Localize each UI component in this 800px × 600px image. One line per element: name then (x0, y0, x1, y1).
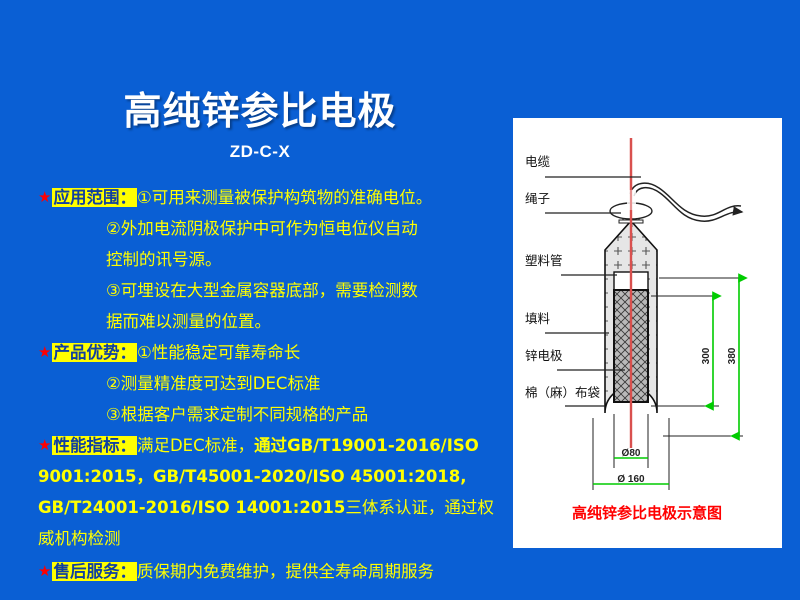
dim-value-d160: Ø 160 (617, 474, 645, 485)
bullet-star-icon: ★ (38, 562, 51, 580)
electrode-schematic: 电缆 绳子 塑料管 填料 锌电极 棉（麻）布袋 300 380 Ø8 (513, 118, 782, 548)
label-cable: 电缆 (525, 154, 551, 169)
section-application-item-1: ①可用来测量被保护构筑物的准确电位。 (137, 188, 432, 207)
section-advantages-item-3-line: ③根据客户需求定制不同规格的产品 (38, 399, 506, 430)
bullet-star-icon: ★ (38, 188, 51, 206)
section-advantages-item-2: ②测量精准度可达到DEC标准 (106, 374, 320, 393)
diagram-panel: 电缆 绳子 塑料管 填料 锌电极 棉（麻）布袋 300 380 Ø8 (513, 118, 782, 548)
section-application-item-2-line: ②外加电流阴极保护中可作为恒电位仪自动 (38, 213, 506, 244)
section-performance: ★性能指标：满足DEC标准，通过GB/T19001-2016/ISO 9001:… (38, 430, 506, 554)
dim-value-380: 380 (727, 347, 738, 364)
section-application-item-2: ②外加电流阴极保护中可作为恒电位仪自动 (106, 219, 418, 238)
bullet-star-icon: ★ (38, 436, 51, 454)
section-application-heading: ★应用范围：①可用来测量被保护构筑物的准确电位。 (38, 182, 506, 213)
section-advantages-heading: ★产品优势：①性能稳定可靠寿命长 (38, 337, 506, 368)
section-application-item-5: 据而难以测量的位置。 (106, 312, 271, 331)
bullet-star-icon: ★ (38, 343, 51, 361)
title-block: 高纯锌参比电极 ZD-C-X (0, 92, 520, 162)
section-application-item-4-line: ③可埋设在大型金属容器底部，需要检测数 (38, 275, 506, 306)
content-body: ★应用范围：①可用来测量被保护构筑物的准确电位。 ②外加电流阴极保护中可作为恒电… (38, 182, 506, 587)
section-service-label: 售后服务： (52, 562, 137, 581)
section-advantages-item-3: ③根据客户需求定制不同规格的产品 (106, 405, 368, 424)
section-application-item-3: 控制的讯号源。 (106, 250, 222, 269)
section-application-item-3-line: 控制的讯号源。 (38, 244, 506, 275)
label-cloth-bag: 棉（麻）布袋 (525, 385, 601, 400)
section-advantages-item-1: ①性能稳定可靠寿命长 (137, 343, 300, 362)
section-application-item-5-line: 据而难以测量的位置。 (38, 306, 506, 337)
section-service: ★售后服务：质保期内免费维护，提供全寿命周期服务 (38, 556, 506, 587)
section-advantages-label: 产品优势： (52, 343, 137, 362)
section-application-label: 应用范围： (52, 188, 137, 207)
section-service-text: 质保期内免费维护，提供全寿命周期服务 (137, 562, 434, 581)
page-title: 高纯锌参比电极 (0, 92, 520, 132)
model-code: ZD-C-X (0, 142, 520, 162)
label-plastic-tube: 塑料管 (525, 253, 563, 268)
slide-canvas: 高纯锌参比电极 ZD-C-X ★应用范围：①可用来测量被保护构筑物的准确电位。 … (0, 0, 800, 600)
dim-value-300: 300 (701, 347, 712, 364)
label-zinc-electrode: 锌电极 (525, 348, 563, 363)
section-application-item-4: ③可埋设在大型金属容器底部，需要检测数 (106, 281, 418, 300)
diagram-caption: 高纯锌参比电极示意图 (572, 504, 722, 522)
label-rope: 绳子 (525, 191, 550, 206)
dim-value-d80: Ø80 (622, 448, 641, 459)
label-filler: 填料 (525, 311, 551, 326)
section-performance-text-1: 满足DEC标准， (137, 436, 254, 455)
section-advantages-item-2-line: ②测量精准度可达到DEC标准 (38, 368, 506, 399)
cable-line-inner (634, 188, 742, 222)
section-performance-label: 性能指标： (52, 436, 137, 455)
